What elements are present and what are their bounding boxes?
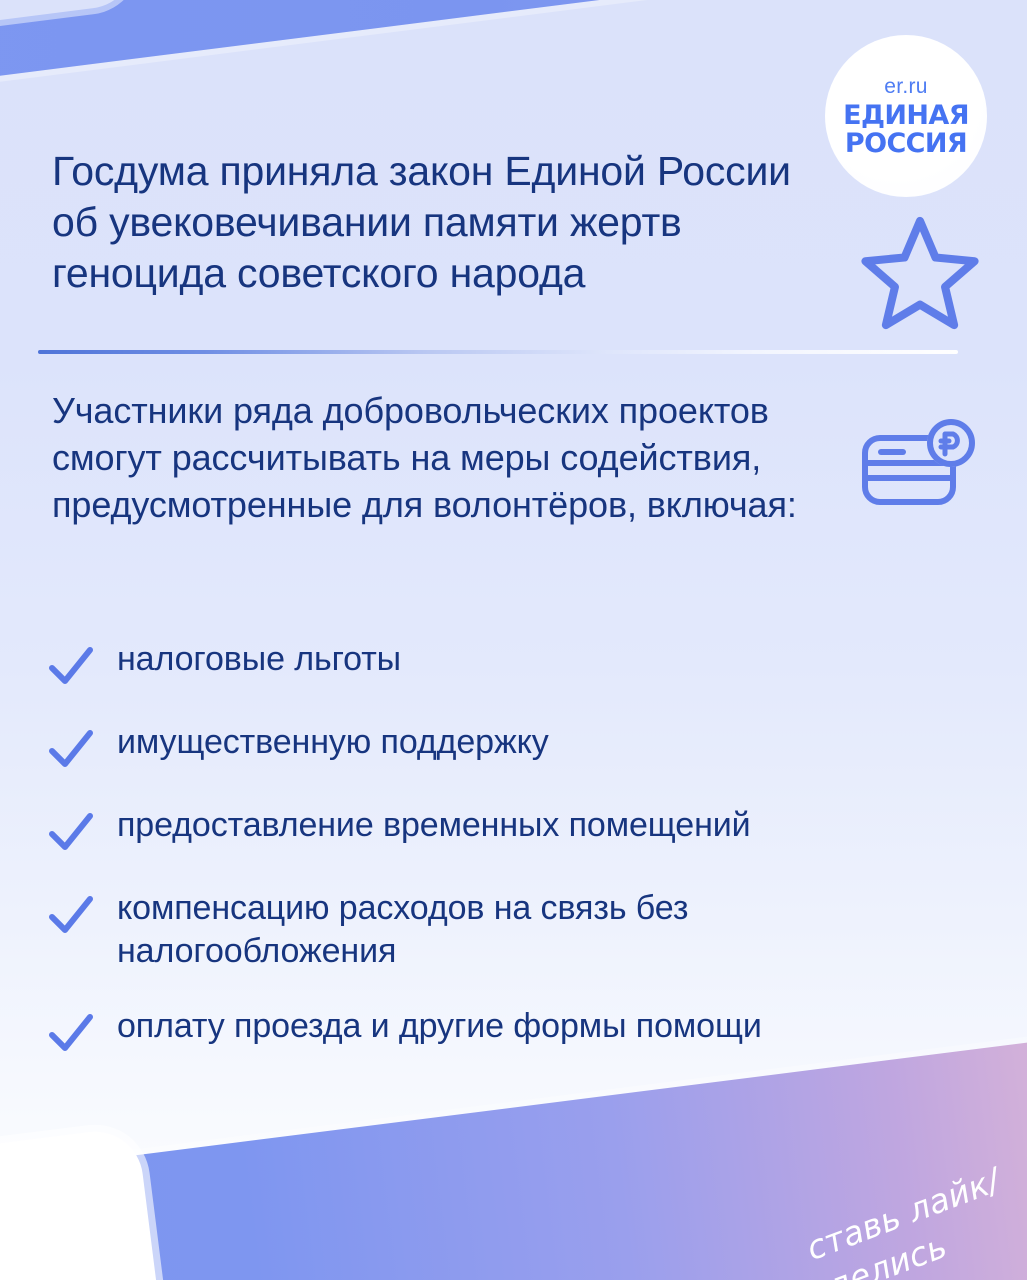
logo-line-1: ЕДИНАЯ [843,102,969,130]
check-icon [48,728,94,772]
benefits-checklist: налоговые льготы имущественную поддержку… [48,636,848,1056]
lede-paragraph: Участники ряда добровольческих проектов … [52,388,812,528]
check-icon [48,811,94,855]
list-item-label: предоставление временных помещений [117,802,751,847]
check-icon [48,894,94,938]
list-item: налоговые льготы [48,636,848,689]
list-item: имущественную поддержку [48,719,848,772]
list-item-label: оплату проезда и другие формы помощи [117,1003,762,1048]
list-item-label: компенсацию расходов на связь без налого… [117,885,848,973]
check-icon [48,645,94,689]
list-item: предоставление временных помещений [48,802,848,855]
section-divider [38,350,958,354]
list-item-label: налоговые льготы [117,636,401,681]
list-item: оплату проезда и другие формы помощи [48,1003,848,1056]
united-russia-logo: er.ru ЕДИНАЯ РОССИЯ [825,35,987,197]
bank-card-ruble-icon [859,416,981,512]
list-item: компенсацию расходов на связь без налого… [48,885,848,973]
list-item-label: имущественную поддержку [117,719,549,764]
logo-line-2: РОССИЯ [845,130,967,158]
logo-url-text: er.ru [884,75,928,99]
poster-canvas: er.ru ЕДИНАЯ РОССИЯ Госдума приняла зако… [0,0,1027,1280]
poster-content: Госдума приняла закон Единой России об у… [0,0,1027,1280]
check-icon [48,1012,94,1056]
star-icon [858,213,982,333]
page-title: Госдума приняла закон Единой России об у… [52,146,812,298]
